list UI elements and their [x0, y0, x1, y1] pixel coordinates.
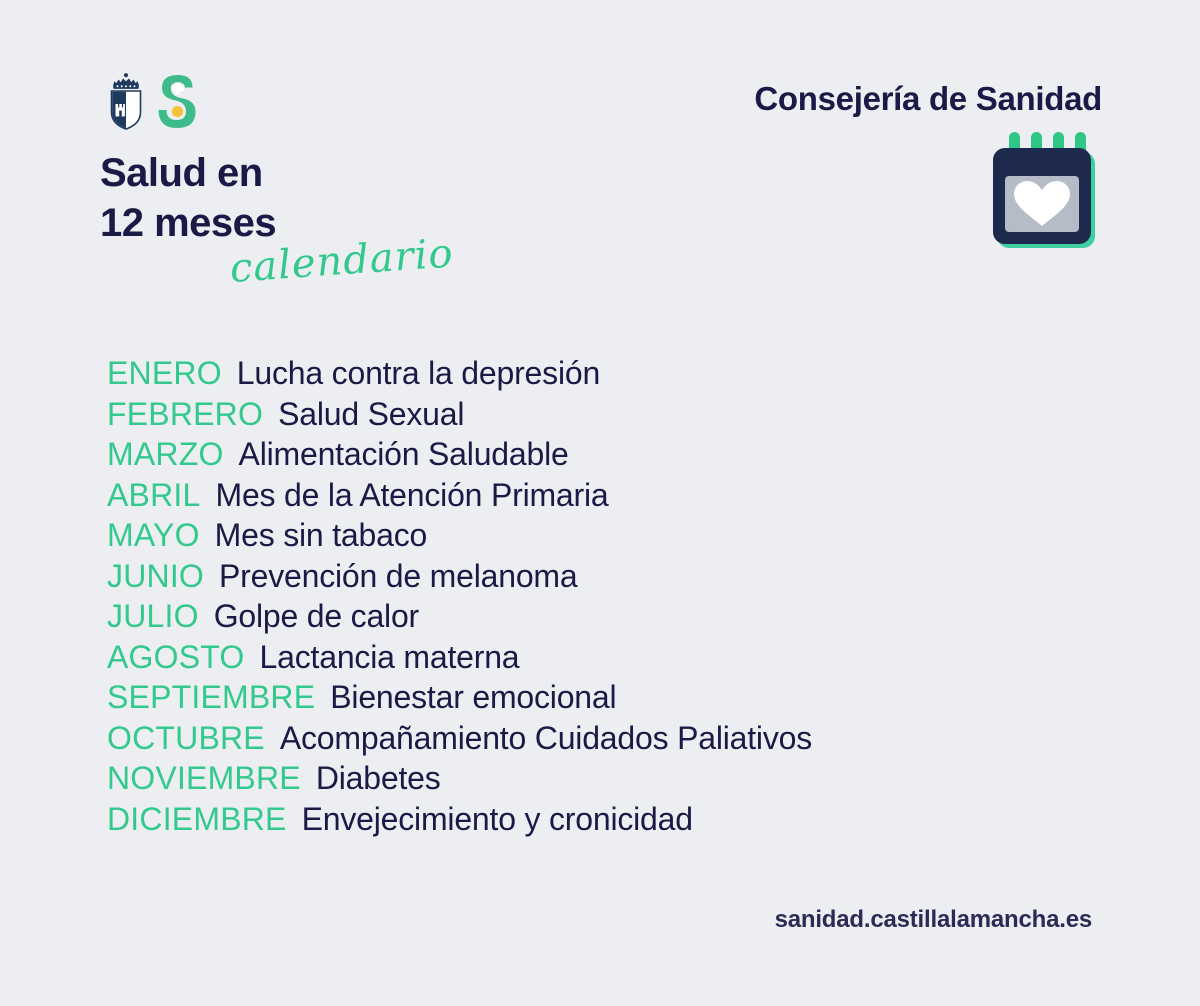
month-name: DICIEMBRE: [107, 799, 287, 840]
month-topic: Lucha contra la depresión: [237, 353, 600, 394]
month-topic: Lactancia materna: [260, 637, 520, 678]
website-url[interactable]: sanidad.castillalamancha.es: [775, 906, 1092, 934]
institutional-logo: [106, 70, 202, 130]
month-topic: Salud Sexual: [278, 394, 464, 435]
month-topic: Acompañamiento Cuidados Paliativos: [280, 718, 812, 759]
list-item: MARZO Alimentación Saludable: [107, 434, 1127, 475]
list-item: FEBRERO Salud Sexual: [107, 394, 1127, 435]
list-item: ENERO Lucha contra la depresión: [107, 353, 1127, 394]
list-item: JUNIO Prevención de melanoma: [107, 556, 1127, 597]
list-item: JULIO Golpe de calor: [107, 596, 1127, 637]
month-name: MARZO: [107, 434, 224, 475]
list-item: AGOSTO Lactancia materna: [107, 637, 1127, 678]
month-name: JUNIO: [107, 556, 204, 597]
month-topic: Prevención de melanoma: [219, 556, 577, 597]
month-topic: Diabetes: [316, 758, 441, 799]
poster-title: Salud en 12 meses calendario: [100, 148, 620, 248]
department-name: Consejería de Sanidad: [754, 80, 1102, 118]
list-item: SEPTIEMBRE Bienestar emocional: [107, 677, 1127, 718]
calendar-heart-icon: [985, 132, 1103, 254]
list-item: MAYO Mes sin tabaco: [107, 515, 1127, 556]
month-topic: Envejecimiento y cronicidad: [302, 799, 693, 840]
month-name: MAYO: [107, 515, 200, 556]
month-name: FEBRERO: [107, 394, 263, 435]
month-topic: Alimentación Saludable: [239, 434, 569, 475]
month-topic: Mes sin tabaco: [215, 515, 427, 556]
month-name: OCTUBRE: [107, 718, 265, 759]
list-item: OCTUBRE Acompañamiento Cuidados Paliativ…: [107, 718, 1127, 759]
sanidad-s-icon: [156, 72, 198, 130]
month-list: ENERO Lucha contra la depresión FEBRERO …: [107, 353, 1127, 839]
list-item: ABRIL Mes de la Atención Primaria: [107, 475, 1127, 516]
month-name: ENERO: [107, 353, 222, 394]
title-line-1: Salud en: [100, 148, 620, 198]
list-item: NOVIEMBRE Diabetes: [107, 758, 1127, 799]
month-topic: Bienestar emocional: [330, 677, 616, 718]
month-name: SEPTIEMBRE: [107, 677, 315, 718]
month-name: NOVIEMBRE: [107, 758, 301, 799]
month-topic: Mes de la Atención Primaria: [215, 475, 608, 516]
month-name: JULIO: [107, 596, 199, 637]
month-name: ABRIL: [107, 475, 200, 516]
list-item: DICIEMBRE Envejecimiento y cronicidad: [107, 799, 1127, 840]
month-name: AGOSTO: [107, 637, 245, 678]
month-topic: Golpe de calor: [214, 596, 419, 637]
poster-canvas: Salud en 12 meses calendario Consejería …: [0, 0, 1200, 1006]
castilla-la-mancha-shield-icon: [106, 72, 146, 130]
